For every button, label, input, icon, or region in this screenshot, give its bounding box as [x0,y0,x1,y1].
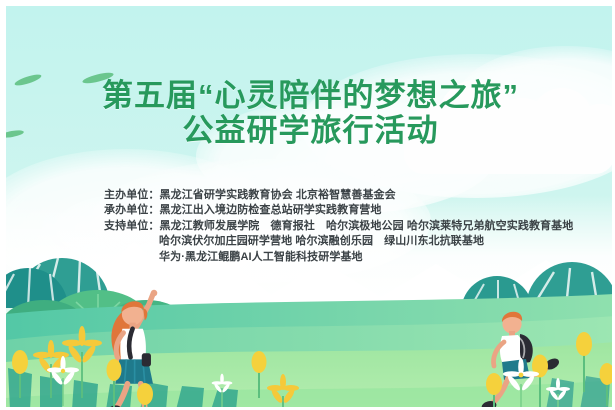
organizer-row-support: 支持单位：黑龙江教师发展学院 德育报社 哈尔滨极地公园 哈尔滨莱特兄弟航空实践教… [104,219,574,234]
organizer-label-organizer: 承办单位： [104,204,160,216]
organizer-value-host: 黑龙江省研学实践教育协会 北京裕智慧善基金会 [160,189,396,201]
organizer-row-support-2: 哈尔滨伏尔加庄园研学营地 哈尔滨融创乐园 绿山川东北抗联基地 [104,234,574,249]
organizer-label-support: 支持单位： [104,220,160,232]
organizer-value-support-2: 哈尔滨伏尔加庄园研学营地 哈尔滨融创乐园 绿山川东北抗联基地 [159,235,484,247]
organizer-row-host: 主办单位：黑龙江省研学实践教育协会 北京裕智慧善基金会 [104,188,574,203]
organizer-row-organizer: 承办单位：黑龙江出入境边防检查总站研学实践教育营地 [104,203,574,218]
organizer-value-support: 黑龙江教师发展学院 德育报社 哈尔滨极地公园 哈尔滨莱特兄弟航空实践教育基地 [160,220,574,232]
organizer-row-support-3: 华为·黑龙江鲲鹏AI人工智能科技研学基地 [104,250,574,265]
poster-root: 第五届“心灵陪伴的梦想之旅” 公益研学旅行活动 主办单位：黑龙江省研学实践教育协… [0,0,615,410]
organizer-label-host: 主办单位： [104,189,160,201]
poster-stage: 第五届“心灵陪伴的梦想之旅” 公益研学旅行活动 主办单位：黑龙江省研学实践教育协… [6,6,615,410]
organizer-value-organizer: 黑龙江出入境边防检查总站研学实践教育营地 [160,204,382,216]
organizer-list: 主办单位：黑龙江省研学实践教育协会 北京裕智慧善基金会 承办单位：黑龙江出入境边… [104,188,574,265]
organizer-value-support-3: 华为·黑龙江鲲鹏AI人工智能科技研学基地 [159,251,363,263]
